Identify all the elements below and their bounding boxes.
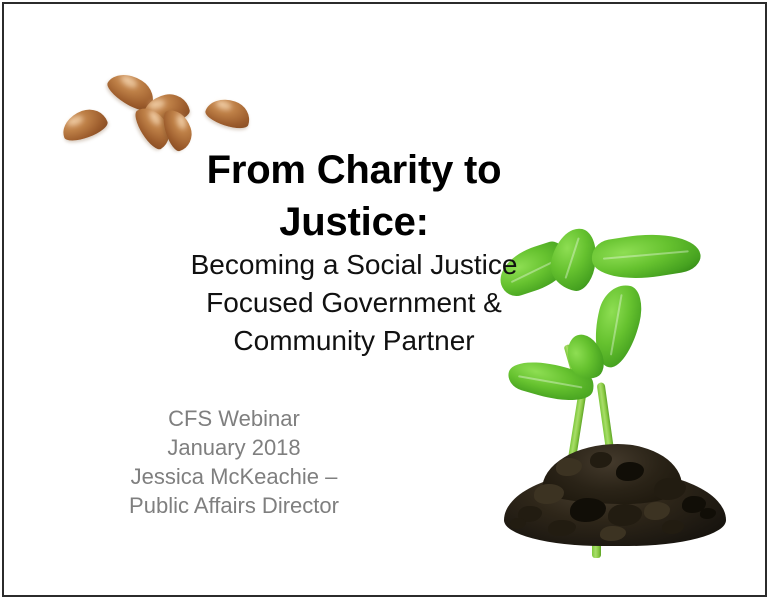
title-line-1: From Charity to [154, 144, 554, 196]
presenter-info: CFS Webinar January 2018 Jessica McKeach… [49, 404, 419, 520]
seed-icon [58, 104, 110, 145]
presenter-role: Public Affairs Director [49, 491, 419, 520]
page-subtitle: Becoming a Social Justice Focused Govern… [154, 246, 554, 360]
soil-mound [504, 444, 726, 548]
subtitle-line-2: Focused Government & [154, 284, 554, 322]
seed-icon [203, 94, 254, 133]
page-title: From Charity to Justice: [154, 144, 554, 248]
presenter-event: CFS Webinar [49, 404, 419, 433]
slide-frame: From Charity to Justice: Becoming a Soci… [0, 0, 771, 601]
presenter-date: January 2018 [49, 433, 419, 462]
presenter-name: Jessica McKeachie – [49, 462, 419, 491]
leaf-icon [589, 226, 703, 286]
subtitle-line-3: Community Partner [154, 322, 554, 360]
subtitle-line-1: Becoming a Social Justice [154, 246, 554, 284]
slide-canvas: From Charity to Justice: Becoming a Soci… [2, 2, 767, 597]
title-line-2: Justice: [154, 196, 554, 248]
